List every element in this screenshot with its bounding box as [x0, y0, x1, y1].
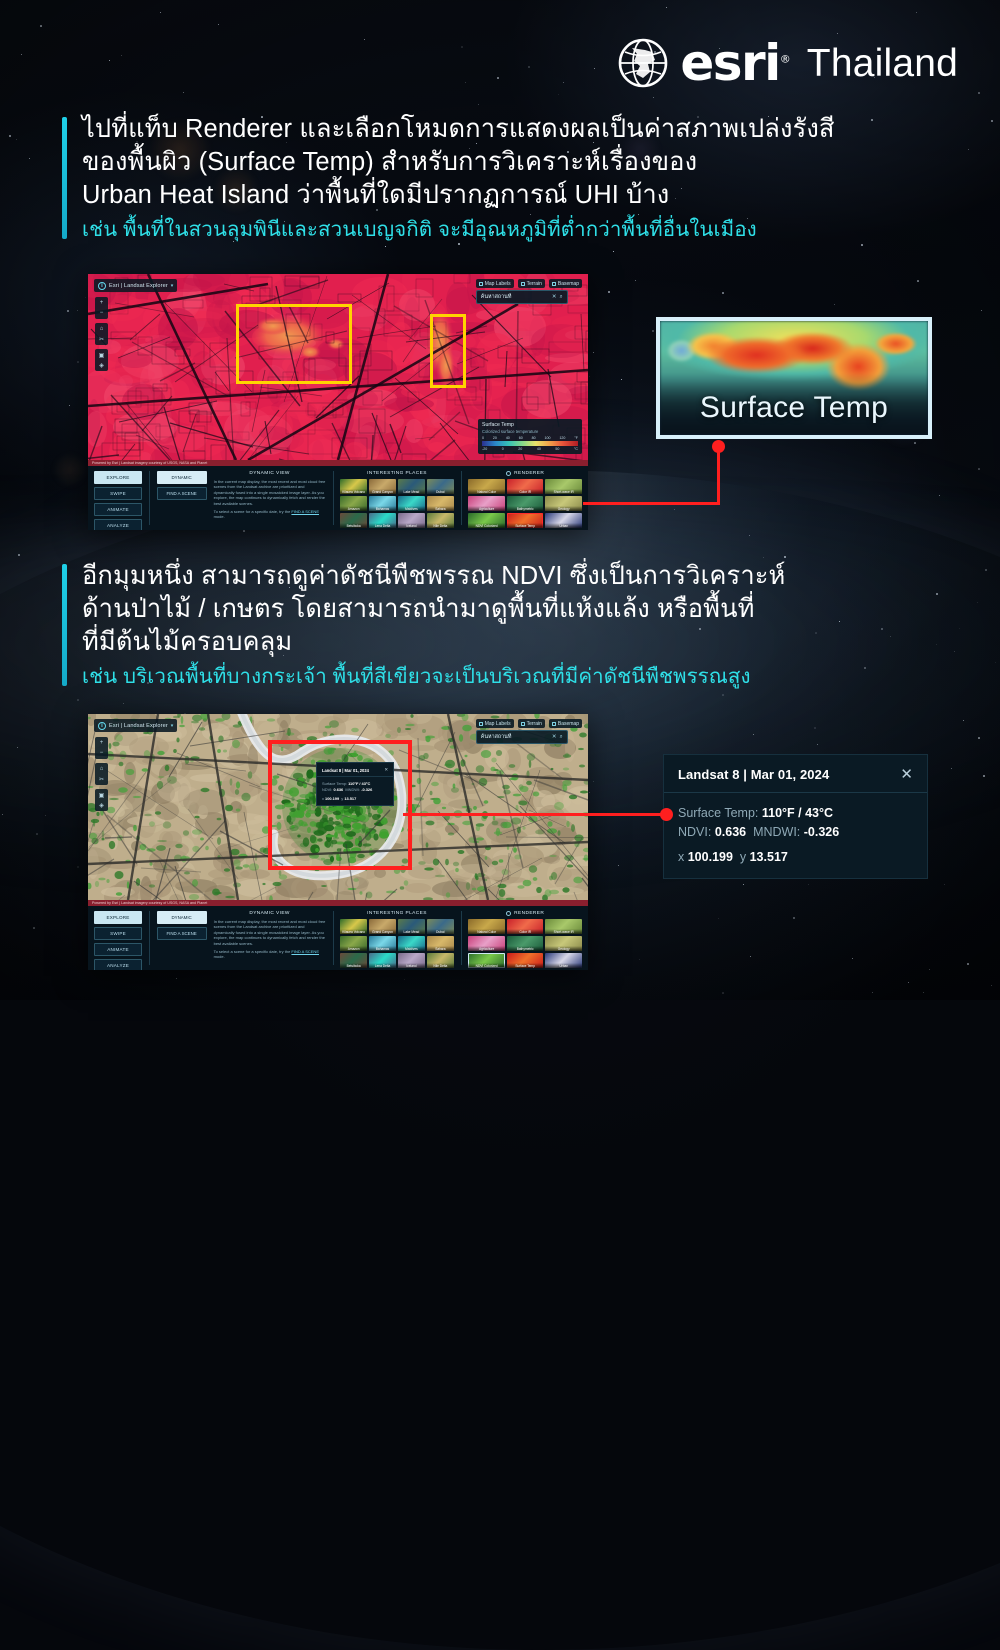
thumbnail-natural-color[interactable]: Natural Color [468, 479, 505, 494]
thumbnail-kilauea-volcano[interactable]: Kilauea Volcano [340, 919, 367, 934]
thumbnail-bahamas[interactable]: Bahamas [369, 496, 396, 511]
thumbnail-bathymetric[interactable]: Bathymetric [507, 936, 544, 951]
renderer-icon [506, 911, 511, 916]
close-icon[interactable]: ✕ [900, 767, 913, 782]
text-line: Urban Heat Island ว่าพื้นที่ใดมีปรากฏการ… [82, 179, 835, 212]
legend-color-ramp [482, 441, 578, 446]
callout-header: Landsat 8 | Mar 01, 2024 ✕ [664, 755, 927, 793]
thumbnail-amazon[interactable]: Amazon [340, 496, 367, 511]
callout-body: Surface Temp: 110°F / 43°C NDVI: 0.636 M… [664, 793, 927, 864]
globe-icon [618, 38, 668, 88]
app-header-bar[interactable]: i Esri | Landsat Explorer ▾ [94, 279, 177, 292]
checkbox-icon[interactable] [552, 282, 556, 286]
thumbnail-surface-temp[interactable]: Surface Temp [507, 953, 544, 968]
info-paragraph: In the current map display, the most rec… [214, 479, 326, 506]
thumbnail-grand-canyon[interactable]: Grand Canyon [369, 479, 396, 494]
search-input[interactable]: ค้นหาสถานที่ [481, 293, 549, 301]
app-bottom-panel[interactable]: Powered by Esri | Landsat imagery courte… [88, 460, 588, 530]
places-thumbnail-grid[interactable]: Kilauea VolcanoGrand CanyonLake MeadDuba… [340, 479, 454, 528]
thumbnail-color-ir[interactable]: Color IR [507, 479, 544, 494]
map-layer-toggles[interactable]: Map Labels Terrain Basemap [476, 279, 582, 288]
submode-find-a-scene[interactable]: FIND A SCENE [157, 487, 207, 500]
map-tool-rail[interactable]: +−⌂✂▣◈ [95, 297, 108, 375]
dynamic-view-info: DYNAMIC VIEW In the current map display,… [214, 471, 326, 525]
mode-swipe[interactable]: SWIPE [94, 927, 142, 940]
thumbnail-geology[interactable]: Geology [545, 936, 582, 951]
measure-icon[interactable]: ✂ [96, 774, 107, 784]
text-line: ไปที่แท็บ Renderer และเลือกโหมดการแสดงผล… [82, 113, 835, 146]
legend-ticks-fahrenheit: 020406080100120°F [482, 436, 578, 440]
thumbnail-agriculture[interactable]: Agriculture [468, 496, 505, 511]
surface-temp-card-label: Surface Temp [660, 391, 928, 425]
text-line: อีกมุมหนึ่ง สามารถดูค่าดัชนีพืชพรรณ NDVI… [82, 560, 785, 593]
legend-tick: 40 [506, 436, 510, 440]
landsat-info-callout-card[interactable]: Landsat 8 | Mar 01, 2024 ✕ Surface Temp:… [663, 754, 928, 879]
thumbnail-lena-delta[interactable]: Lena Delta [369, 953, 396, 968]
thumbnail-dubai[interactable]: Dubai [427, 919, 454, 934]
checkbox-icon[interactable] [521, 282, 525, 286]
info-heading: DYNAMIC VIEW [214, 911, 326, 916]
renderer-heading-row: RENDERER [468, 471, 582, 476]
callout-coords-row: x 100.199 y 13.517 [678, 850, 913, 864]
legend-tick: 0 [482, 436, 484, 440]
connector-dot [712, 440, 725, 453]
mode-buttons[interactable]: EXPLORESWIPEANIMATEANALYZE [94, 911, 142, 965]
submode-buttons[interactable]: DYNAMICFIND A SCENE [157, 471, 207, 525]
thumbnail-urban[interactable]: Urban [545, 953, 582, 968]
checkbox-icon[interactable] [479, 282, 483, 286]
zoom-out-icon[interactable]: − [96, 748, 107, 758]
mode-explore[interactable]: EXPLORE [94, 911, 142, 924]
legend-tick: 120 [559, 436, 565, 440]
places-heading: INTERESTING PLACES [340, 911, 454, 916]
thumbnail-maldives[interactable]: Maldives [398, 936, 425, 951]
mode-buttons[interactable]: EXPLORESWIPEANIMATEANALYZE [94, 471, 142, 525]
connector-line-popup [403, 813, 665, 816]
callout-title: Landsat 8 | Mar 01, 2024 [678, 767, 829, 782]
zoom-out-icon[interactable]: − [96, 308, 107, 318]
close-icon[interactable]: ✕ [384, 767, 388, 773]
renderer-panel[interactable]: RENDERER Natural ColorColor IRShort-wave… [468, 471, 582, 525]
rail-group[interactable]: ⌂✂ [95, 763, 108, 785]
map-popup-landsat-info[interactable]: Landsat 8 | Mar 01, 2024 ✕ Surface Temp:… [316, 762, 394, 806]
info-paragraph: In the current map display, the most rec… [214, 919, 326, 946]
legend-title: Surface Temp [482, 422, 578, 428]
renderer-heading-row: RENDERER [468, 911, 582, 916]
landsat-explorer-screenshot-ndvi[interactable]: Landsat 8 | Mar 01, 2024 ✕ Surface Temp:… [88, 714, 588, 970]
thumbnail-natural-color[interactable]: Natural Color [468, 919, 505, 934]
checkbox-icon[interactable] [521, 722, 525, 726]
measure-icon[interactable]: ✂ [96, 334, 107, 344]
zoom-in-icon[interactable]: + [96, 738, 107, 748]
renderer-icon [506, 471, 511, 476]
popup-title: Landsat 8 | Mar 01, 2024 [322, 768, 369, 773]
esri-wordmark: esri® [680, 38, 790, 88]
thumbnail-lena-delta[interactable]: Lena Delta [369, 513, 396, 528]
mode-animate[interactable]: ANIMATE [94, 503, 142, 516]
thumbnail-betsiboka[interactable]: Betsiboka [340, 953, 367, 968]
legend-tick: -20 [482, 447, 487, 451]
toggle-terrain[interactable]: Terrain [518, 719, 545, 728]
submode-buttons[interactable]: DYNAMICFIND A SCENE [157, 911, 207, 965]
map-search-box[interactable]: ค้นหาสถานที่ ✕ ⌕ [476, 290, 568, 304]
thumbnail-short-wave-ir[interactable]: Short-wave IR [545, 919, 582, 934]
layers-icon[interactable]: ◈ [96, 360, 107, 370]
layers-icon[interactable]: ◈ [96, 800, 107, 810]
mode-swipe[interactable]: SWIPE [94, 487, 142, 500]
info-paragraph-2: To select a scene for a specific date, t… [214, 949, 326, 960]
map-layer-toggles[interactable]: Map Labels Terrain Basemap [476, 719, 582, 728]
info-icon[interactable]: i [98, 282, 106, 290]
legend-tick: 50 [555, 447, 559, 451]
thumbnail-short-wave-ir[interactable]: Short-wave IR [545, 479, 582, 494]
map-top-right-controls[interactable]: Map Labels Terrain Basemap ค้นหาสถานที่ … [476, 279, 582, 304]
mode-analyze[interactable]: ANALYZE [94, 519, 142, 530]
thumbnail-bahamas[interactable]: Bahamas [369, 936, 396, 951]
info-heading: DYNAMIC VIEW [214, 471, 326, 476]
chevron-down-icon[interactable]: ▾ [171, 723, 174, 729]
close-icon[interactable]: ✕ [552, 734, 557, 740]
info-icon[interactable]: i [98, 722, 106, 730]
app-header-bar[interactable]: i Esri | Landsat Explorer ▾ [94, 719, 177, 732]
checkbox-icon[interactable] [552, 722, 556, 726]
zoom-in-icon[interactable]: + [96, 298, 107, 308]
thumbnail-betsiboka[interactable]: Betsiboka [340, 513, 367, 528]
renderer-heading: RENDERER [514, 471, 544, 476]
rail-group[interactable]: +− [95, 297, 108, 319]
legend-tick: °C [574, 447, 578, 451]
rail-group[interactable]: ▣◈ [95, 349, 108, 371]
landsat-explorer-screenshot-surface-temp[interactable]: i Esri | Landsat Explorer ▾ +−⌂✂▣◈ Map L… [88, 274, 588, 530]
text-subnote: เช่น บริเวณพื้นที่บางกระเจ้า พื้นที่สีเข… [82, 662, 785, 692]
map-top-right-controls[interactable]: Map Labels Terrain Basemap ค้นหาสถานที่ … [476, 719, 582, 744]
popup-coords-row: x 100.199 y 13.517 [322, 796, 388, 802]
mode-analyze[interactable]: ANALYZE [94, 959, 142, 970]
popup-index-row: NDVI: 0.636 MNDWI: -0.326 [322, 787, 388, 793]
legend-tick: °F [574, 436, 578, 440]
connector-line-vertical [717, 446, 720, 504]
thumbnail-kilauea-volcano[interactable]: Kilauea Volcano [340, 479, 367, 494]
highlight-box-benjakitti-park [430, 314, 466, 388]
renderer-thumbnail-grid[interactable]: Natural ColorColor IRShort-wave IRAgricu… [468, 919, 582, 968]
app-title: Esri | Landsat Explorer [109, 283, 168, 289]
home-icon[interactable]: ⌂ [96, 324, 107, 334]
thumbnail-lake-mead[interactable]: Lake Mead [398, 919, 425, 934]
thumbnail-agriculture[interactable]: Agriculture [468, 936, 505, 951]
thumbnail-iceland[interactable]: Iceland [398, 953, 425, 968]
toggle-basemap[interactable]: Basemap [549, 279, 582, 288]
legend-tick: 80 [532, 436, 536, 440]
legend-tick: 60 [519, 436, 523, 440]
toggle-map-labels[interactable]: Map Labels [476, 279, 514, 288]
thumbnail-surface-temp[interactable]: Surface Temp [507, 513, 544, 528]
panel-divider [333, 471, 334, 525]
legend-subtitle: Colorized surface temperature [482, 429, 578, 434]
thumbnail-amazon[interactable]: Amazon [340, 936, 367, 951]
legend-tick: 20 [493, 436, 497, 440]
search-icon[interactable]: ⌕ [560, 294, 563, 301]
interesting-places-panel[interactable]: INTERESTING PLACES Kilauea VolcanoGrand … [340, 911, 454, 965]
search-input[interactable]: ค้นหาสถานที่ [481, 733, 549, 741]
text-line: ที่มีต้นไม้ครอบคลุม [82, 626, 785, 659]
thumbnail-geology[interactable]: Geology [545, 496, 582, 511]
thumbnail-lake-mead[interactable]: Lake Mead [398, 479, 425, 494]
callout-surface-temp-row: Surface Temp: 110°F / 43°C [678, 804, 913, 823]
esri-thailand-logo: esri® Thailand [618, 38, 958, 88]
mode-animate[interactable]: ANIMATE [94, 943, 142, 956]
rail-group[interactable]: +− [95, 737, 108, 759]
surface-temp-callout-card: Surface Temp [656, 317, 932, 439]
thumbnail-bathymetric[interactable]: Bathymetric [507, 496, 544, 511]
text-block-surface-temp: ไปที่แท็บ Renderer และเลือกโหมดการแสดงผล… [62, 113, 835, 245]
info-paragraph-2: To select a scene for a specific date, t… [214, 509, 326, 520]
panel-divider [461, 911, 462, 965]
map-tool-rail[interactable]: +−⌂✂▣◈ [95, 737, 108, 815]
toggle-terrain[interactable]: Terrain [518, 279, 545, 288]
brand-country: Thailand [807, 44, 958, 83]
thumbnail-grand-canyon[interactable]: Grand Canyon [369, 919, 396, 934]
rail-group[interactable]: ▣◈ [95, 789, 108, 811]
thumbnail-maldives[interactable]: Maldives [398, 496, 425, 511]
app-bottom-panel[interactable]: Powered by Esri | Landsat imagery courte… [88, 900, 588, 970]
bookmark-icon[interactable]: ▣ [96, 790, 107, 800]
thumbnail-ndvi-colorized[interactable]: NDVI Colorized [468, 513, 505, 528]
submode-dynamic[interactable]: DYNAMIC [157, 471, 207, 484]
callout-index-row: NDVI: 0.636 MNDWI: -0.326 [678, 823, 913, 842]
home-icon[interactable]: ⌂ [96, 764, 107, 774]
legend-tick: 20 [518, 447, 522, 451]
checkbox-icon[interactable] [479, 722, 483, 726]
thumbnail-dubai[interactable]: Dubai [427, 479, 454, 494]
rail-group[interactable]: ⌂✂ [95, 323, 108, 345]
find-a-scene-link[interactable]: FIND A SCENE [291, 949, 319, 954]
legend-tick: 40 [537, 447, 541, 451]
highlight-box-lumpini-park [236, 304, 352, 384]
text-line: ด้านป่าไม้ / เกษตร โดยสามารถนำมาดูพื้นที… [82, 593, 785, 626]
thumbnail-sahara[interactable]: Sahara [427, 936, 454, 951]
text-subnote: เช่น พื้นที่ในสวนลุมพินีและสวนเบญจกิติ จ… [82, 215, 835, 245]
text-block-ndvi: อีกมุมหนึ่ง สามารถดูค่าดัชนีพืชพรรณ NDVI… [62, 560, 785, 692]
thumbnail-urban[interactable]: Urban [545, 513, 582, 528]
renderer-panel[interactable]: RENDERER Natural ColorColor IRShort-wave… [468, 911, 582, 965]
panel-divider [461, 471, 462, 525]
bookmark-icon[interactable]: ▣ [96, 350, 107, 360]
thumbnail-iceland[interactable]: Iceland [398, 513, 425, 528]
thumbnail-nile-delta[interactable]: Nile Delta [427, 953, 454, 968]
dynamic-view-info: DYNAMIC VIEW In the current map display,… [214, 911, 326, 965]
renderer-thumbnail-grid[interactable]: Natural ColorColor IRShort-wave IRAgricu… [468, 479, 582, 528]
toggle-map-labels[interactable]: Map Labels [476, 719, 514, 728]
text-line: ของพื้นผิว (Surface Temp) สำหรับการวิเคร… [82, 146, 835, 179]
find-a-scene-link[interactable]: FIND A SCENE [291, 509, 319, 514]
chevron-down-icon[interactable]: ▾ [171, 283, 174, 289]
search-icon[interactable]: ⌕ [560, 734, 563, 741]
connector-line-horizontal [583, 502, 720, 505]
places-heading: INTERESTING PLACES [340, 471, 454, 476]
legend-ticks-celsius: -200204050°C [482, 447, 578, 451]
panel-divider [333, 911, 334, 965]
registered-mark: ® [780, 52, 791, 65]
panel-divider [149, 911, 150, 965]
close-icon[interactable]: ✕ [552, 294, 557, 300]
legend-tick: 100 [545, 436, 551, 440]
toggle-basemap[interactable]: Basemap [549, 719, 582, 728]
renderer-heading: RENDERER [514, 911, 544, 916]
interesting-places-panel[interactable]: INTERESTING PLACES Kilauea VolcanoGrand … [340, 471, 454, 525]
panel-divider [149, 471, 150, 525]
submode-find-a-scene[interactable]: FIND A SCENE [157, 927, 207, 940]
thumbnail-ndvi-colorized[interactable]: NDVI Colorized [468, 953, 505, 968]
mode-explore[interactable]: EXPLORE [94, 471, 142, 484]
map-search-box[interactable]: ค้นหาสถานที่ ✕ ⌕ [476, 730, 568, 744]
app-title: Esri | Landsat Explorer [109, 723, 168, 729]
connector-dot-popup [660, 808, 673, 821]
submode-dynamic[interactable]: DYNAMIC [157, 911, 207, 924]
thumbnail-color-ir[interactable]: Color IR [507, 919, 544, 934]
legend-tick: 0 [502, 447, 504, 451]
thumbnail-nile-delta[interactable]: Nile Delta [427, 513, 454, 528]
surface-temp-legend: Surface Temp Colorized surface temperatu… [478, 419, 582, 454]
thumbnail-sahara[interactable]: Sahara [427, 496, 454, 511]
places-thumbnail-grid[interactable]: Kilauea VolcanoGrand CanyonLake MeadDuba… [340, 919, 454, 968]
